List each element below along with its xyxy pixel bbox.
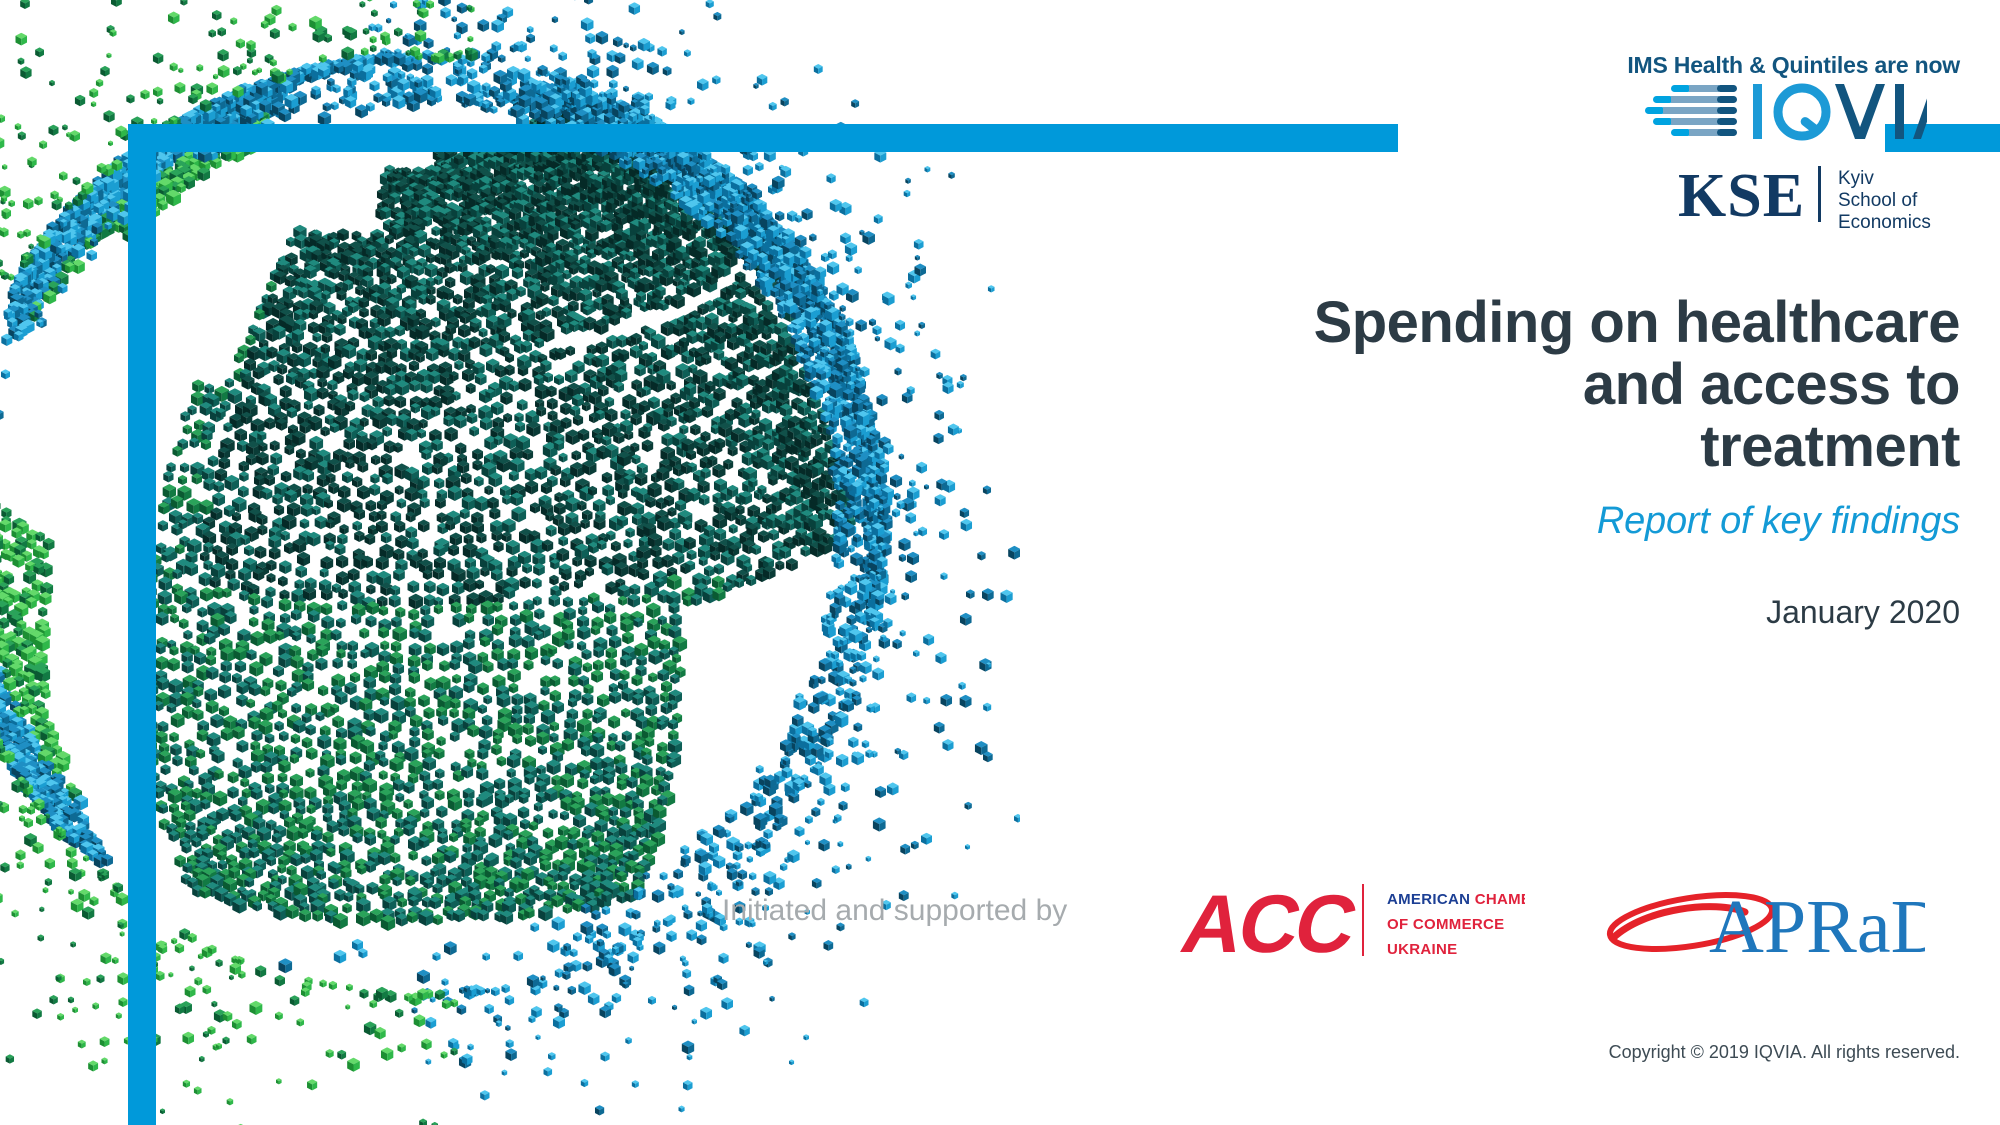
iqvia-tagline: IMS Health & Quintiles are now [1627,52,1960,79]
iqvia-logo-lockup: IMS Health & Quintiles are now [1627,52,1960,143]
svg-text:AMERICAN CHAMBER: AMERICAN CHAMBER [1387,891,1525,908]
aprad-logo-lockup: APRaD [1605,878,1925,969]
iqvia-wordmark-icon: TM [1627,81,1927,143]
aprad-logo-icon: APRaD [1605,878,1925,964]
acc-logo-lockup: ACC AMERICAN CHAMBER OF COMMERCE UKRAINE [1175,872,1525,972]
supporters-row: Initiated and supported by ACC AMERICAN … [0,872,2000,982]
copyright-notice: Copyright © 2019 IQVIA. All rights reser… [1609,1042,1960,1063]
supported-by-label: Initiated and supported by [722,894,1067,928]
title-line-3: treatment [1700,414,1960,479]
svg-text:Economics: Economics [1838,212,1931,233]
kse-logo-lockup: KSE Kyiv School of Economics [1678,158,1958,243]
aprad-wordmark-text: APRaD [1709,885,1925,964]
page-subtitle: Report of key findings [1140,500,1960,543]
kse-logo-icon: KSE Kyiv School of Economics [1678,158,1958,238]
publication-date: January 2020 [1766,594,1960,631]
kse-initials-text: KSE [1678,162,1805,230]
svg-text:Kyiv: Kyiv [1838,168,1874,189]
svg-text:OF COMMERCE: OF COMMERCE [1387,916,1504,933]
title-line-1: Spending on healthcare [1314,290,1960,355]
slide-root: IMS Health & Quintiles are now [0,0,2000,1125]
acc-wordmark-text: ACC [1175,878,1364,967]
svg-text:School of: School of [1838,190,1918,211]
acc-logo-icon: ACC AMERICAN CHAMBER OF COMMERCE UKRAINE [1175,872,1525,967]
title-line-2: and access to [1583,352,1960,417]
page-title: Spending on healthcare and access to tre… [1140,292,1960,478]
title-block: Spending on healthcare and access to tre… [1140,292,1960,543]
svg-text:UKRAINE: UKRAINE [1387,941,1457,958]
